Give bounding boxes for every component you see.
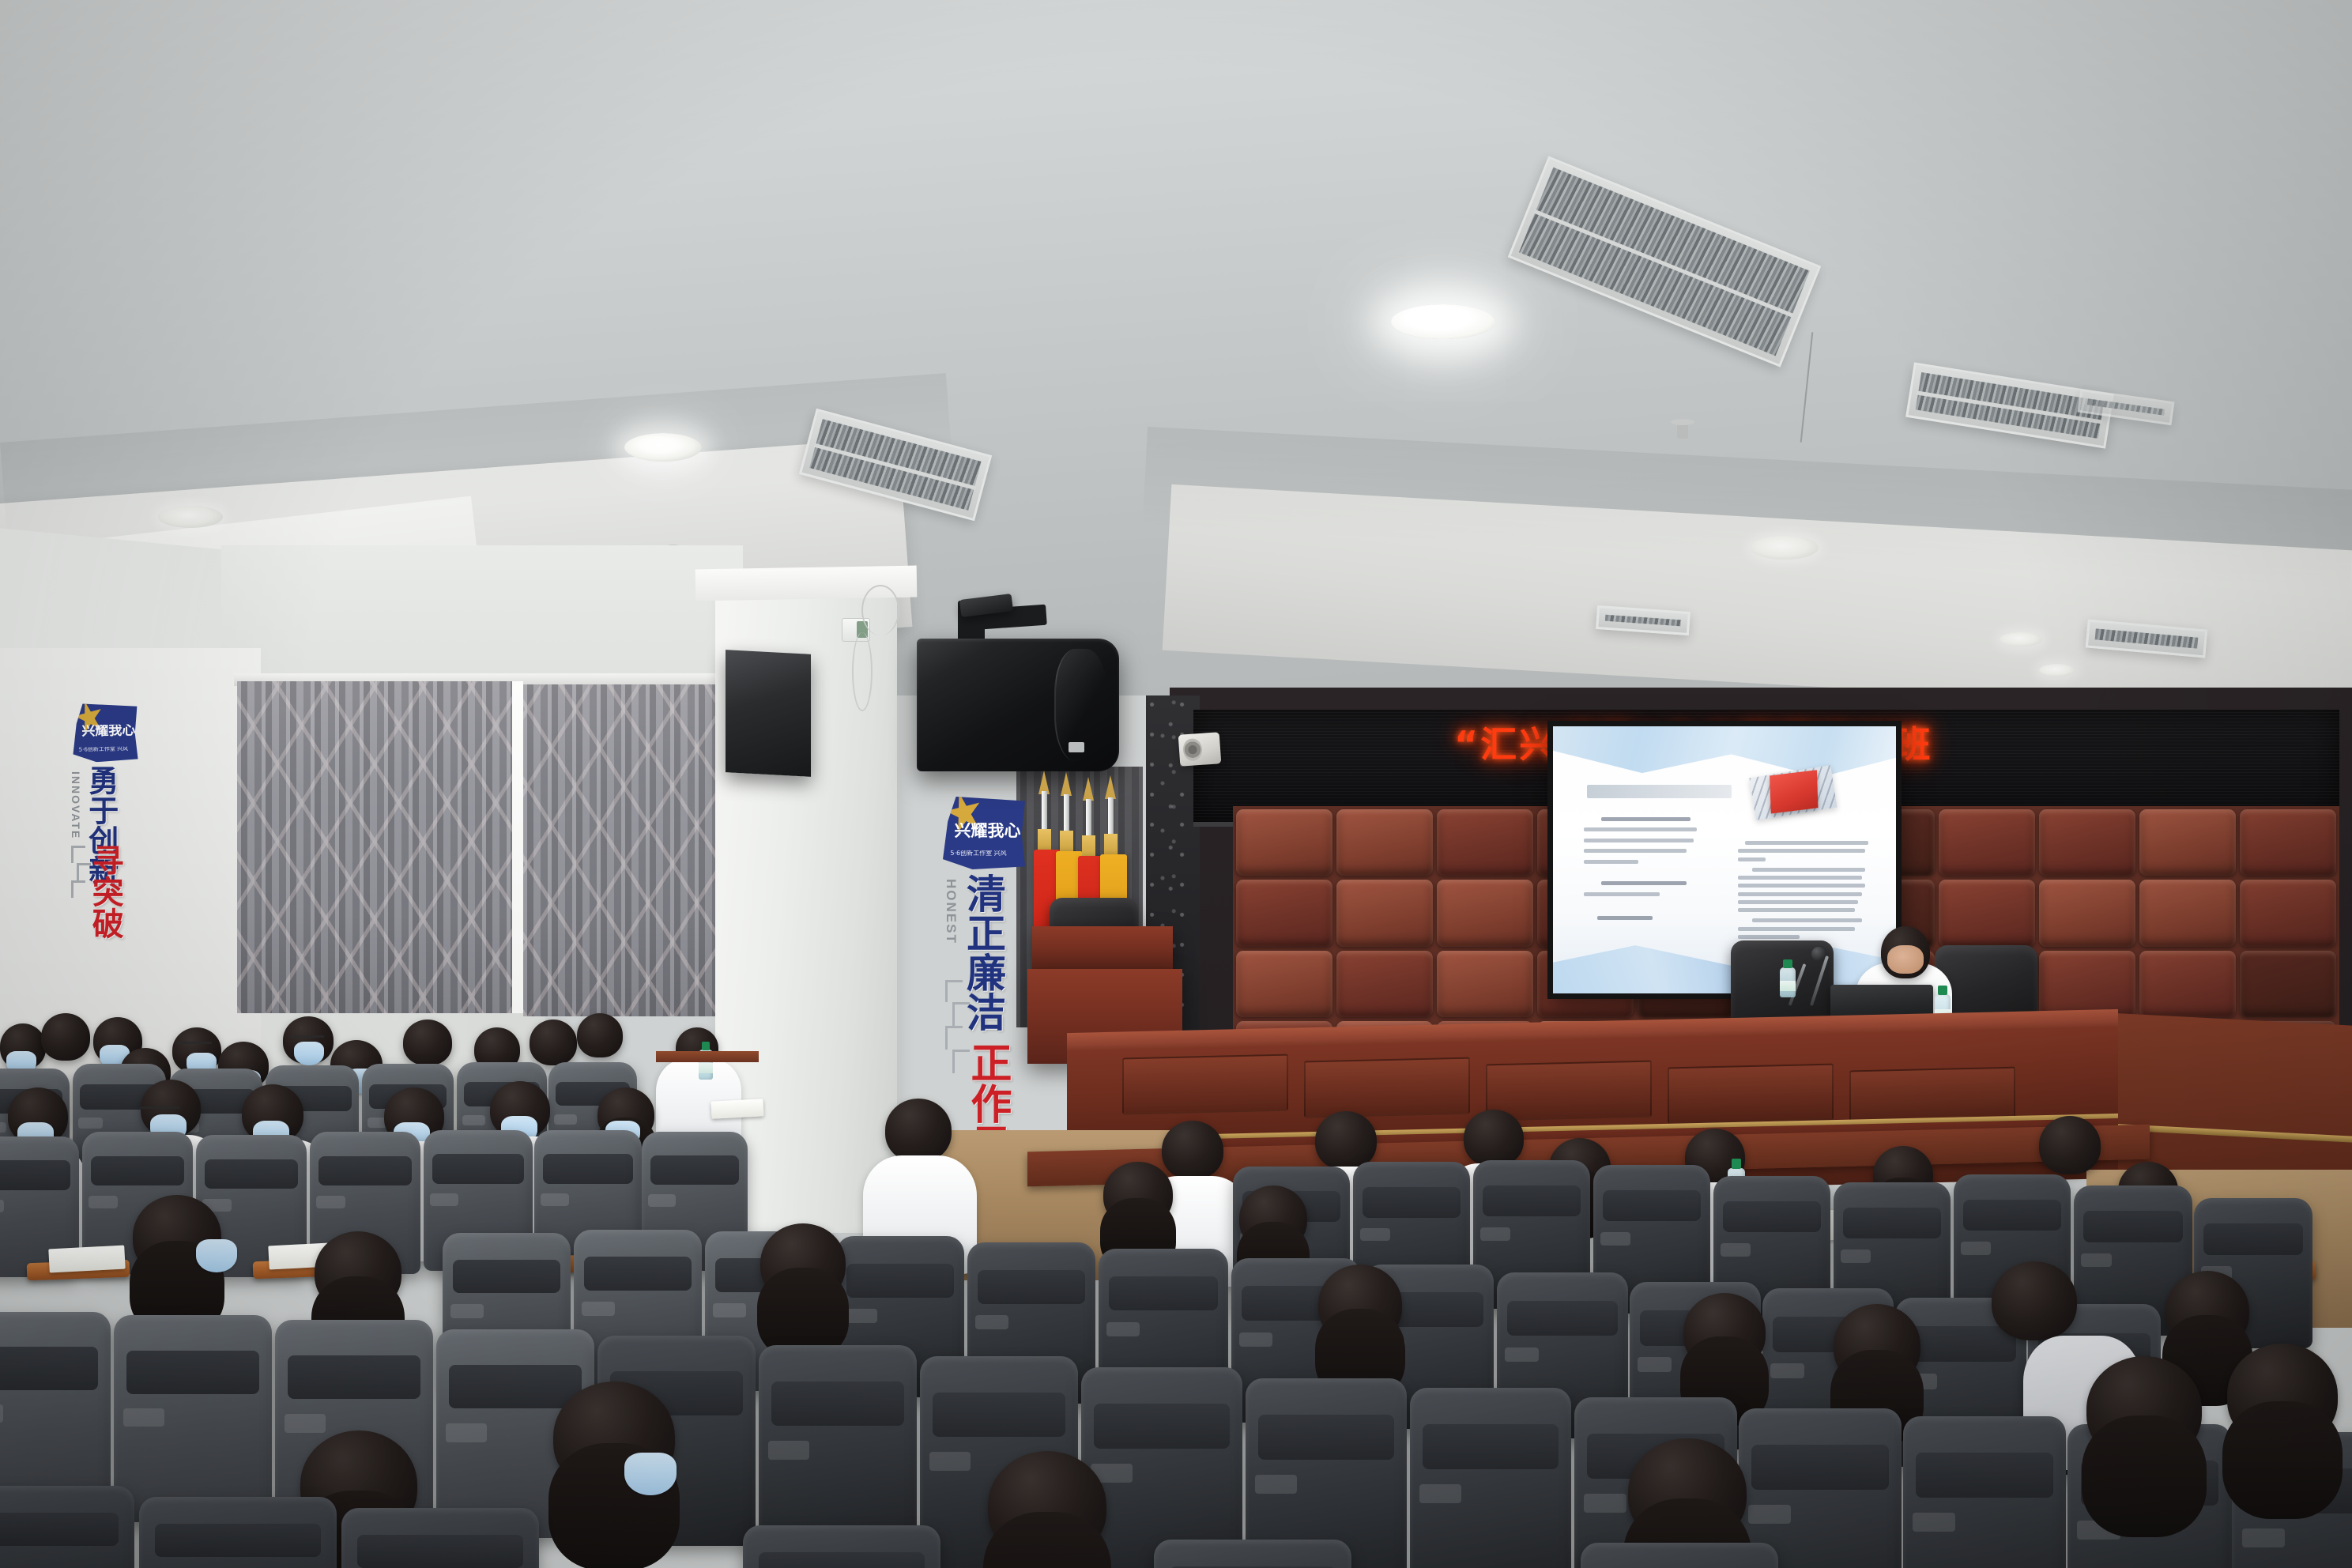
attendee-head bbox=[2227, 1344, 2338, 1446]
face-mask bbox=[294, 1042, 324, 1065]
attendee-head bbox=[315, 1231, 401, 1312]
decal-pillar-zigzag bbox=[952, 1002, 970, 1026]
wall-speaker-secondary bbox=[726, 650, 811, 777]
attendee-head bbox=[760, 1223, 846, 1302]
auditorium-seat bbox=[341, 1508, 539, 1568]
attendee-head bbox=[1318, 1265, 1402, 1344]
front-table bbox=[656, 1051, 759, 1062]
downlight-icon bbox=[158, 506, 223, 528]
eyeglasses bbox=[177, 1042, 212, 1047]
law-book-image bbox=[1749, 766, 1837, 821]
downlight-icon bbox=[2039, 664, 2075, 677]
attendee-head bbox=[1239, 1185, 1307, 1250]
downlight-icon bbox=[2000, 632, 2042, 646]
jbl-speaker bbox=[917, 639, 1119, 771]
attendee-head bbox=[530, 1020, 577, 1065]
attendee-head bbox=[1315, 1111, 1377, 1170]
face-mask bbox=[624, 1453, 677, 1495]
attendee-head bbox=[1103, 1162, 1173, 1227]
desk-panel bbox=[1668, 1064, 1834, 1125]
badge-main-text: 兴耀我心 bbox=[955, 823, 1022, 847]
attendee-head bbox=[2039, 1116, 2101, 1174]
water-bottle bbox=[1780, 967, 1796, 997]
downlight-icon bbox=[1391, 304, 1495, 339]
badge-sub-text: 5·6创新工作室 兴风 bbox=[79, 746, 136, 760]
podium-lectern bbox=[1032, 926, 1173, 969]
auditorium-seat bbox=[1581, 1543, 1778, 1568]
auditorium-seat bbox=[743, 1525, 940, 1568]
presenter-face bbox=[1887, 945, 1924, 974]
attendee-head bbox=[1834, 1304, 1920, 1386]
face-mask bbox=[196, 1239, 237, 1272]
decal-left-badge: 兴耀我心 5·6创新工作室 兴风 bbox=[72, 703, 138, 762]
window-curtain-left bbox=[237, 681, 512, 1013]
eyeglasses bbox=[289, 1035, 324, 1041]
auditorium-seat bbox=[139, 1497, 337, 1568]
attendee-head bbox=[1628, 1438, 1747, 1546]
auditorium-seat bbox=[1154, 1540, 1351, 1568]
auditorium-photo: “汇兴讲堂”企业管理培训班 企业经营法律风险防控知识 bbox=[0, 0, 2352, 1568]
sprinkler-head-icon bbox=[1677, 423, 1688, 439]
notepad bbox=[710, 1099, 763, 1118]
attendee-head bbox=[1162, 1121, 1223, 1179]
horn-speaker-icon bbox=[1178, 732, 1222, 767]
auditorium-seat bbox=[1081, 1367, 1242, 1568]
slide-content bbox=[1553, 726, 1896, 993]
hanging-cable bbox=[852, 632, 873, 711]
decal-pillar-zigzag bbox=[945, 980, 963, 1002]
eyeglasses bbox=[139, 1106, 180, 1112]
attendee-head bbox=[577, 1013, 623, 1057]
window-curtain-right bbox=[523, 684, 726, 1016]
desk-panel bbox=[1486, 1061, 1652, 1121]
attendee-head bbox=[2165, 1271, 2249, 1350]
decal-pillar-zigzag bbox=[945, 1026, 963, 1050]
desk-panel bbox=[1122, 1054, 1288, 1115]
attendee-head bbox=[1464, 1110, 1524, 1167]
decal-left-latin: INNOVATE bbox=[70, 771, 82, 839]
attendee-head bbox=[1683, 1293, 1766, 1370]
auditorium-seat bbox=[1903, 1416, 2066, 1568]
attendee-head bbox=[885, 1099, 952, 1162]
decal-pillar-latin: HONEST bbox=[943, 879, 959, 944]
curtain-gap bbox=[512, 681, 523, 1013]
jbl-logo-icon bbox=[1069, 742, 1084, 752]
attendee-head bbox=[403, 1020, 452, 1065]
microphone-icon bbox=[1811, 947, 1826, 961]
badge-sub-text: 5·6创新工作室 兴风 bbox=[950, 850, 1023, 866]
decal-left-red-text: 寻突破 bbox=[89, 844, 121, 939]
decal-left-zigzag bbox=[71, 846, 85, 863]
downlight-icon bbox=[624, 433, 702, 462]
attendee-head bbox=[988, 1451, 1106, 1560]
auditorium-seat bbox=[1410, 1388, 1571, 1568]
desk-panel bbox=[1304, 1057, 1470, 1118]
auditorium-seat bbox=[0, 1486, 134, 1568]
badge-main-text: 兴耀我心 bbox=[81, 724, 135, 744]
downlight-icon bbox=[1751, 536, 1819, 560]
attendee-head bbox=[41, 1013, 90, 1061]
attendee-head bbox=[2086, 1356, 2202, 1462]
slide-title-bar bbox=[1587, 785, 1731, 798]
projection-screen bbox=[1547, 721, 1902, 999]
hanging-cable bbox=[861, 585, 899, 635]
notepad bbox=[48, 1246, 125, 1273]
decal-pillar-badge: 兴耀我心 5·6创新工作室 兴风 bbox=[943, 797, 1025, 869]
auditorium-seat bbox=[114, 1315, 272, 1522]
decal-left-zigzag bbox=[71, 880, 85, 898]
attendee-head bbox=[1992, 1261, 2077, 1340]
